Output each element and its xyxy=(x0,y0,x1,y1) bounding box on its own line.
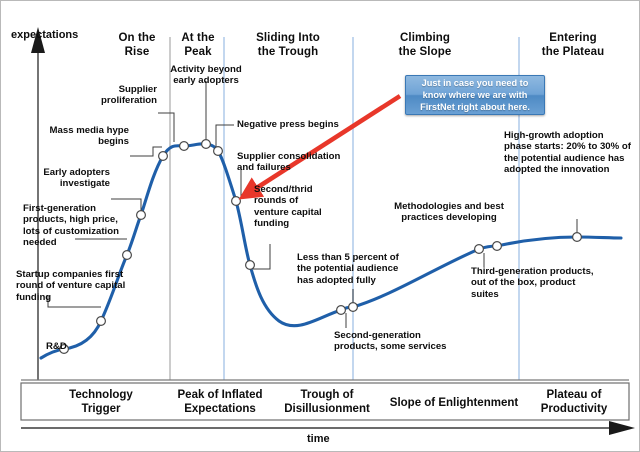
phase-heading-line2: the Plateau xyxy=(525,46,621,60)
band-label-slope-of-enlightenment: Slope of Enlightenment xyxy=(371,397,537,411)
annotation-second-third-rounds-text: Second/thrid rounds of venture capital f… xyxy=(254,184,332,229)
annotation-second-generation-text: Second-generation products, some service… xyxy=(334,330,456,353)
annotation-rnd: R&D xyxy=(46,341,67,352)
marker-second-third xyxy=(232,197,241,206)
annotation-second-generation: Second-generation products, some service… xyxy=(334,330,456,353)
annotation-early-adopters-text: Early adopters investigate xyxy=(18,167,110,190)
phase-heading-line1: At the xyxy=(172,32,224,46)
annotation-third-generation-text: Third-generation products, out of the bo… xyxy=(471,266,601,300)
annotation-supplier-consolidation: Supplier consolidation and failures xyxy=(237,151,347,174)
marker-less-than-5 xyxy=(246,261,255,270)
marker-startup xyxy=(97,317,106,326)
annotation-methodologies-text: Methodologies and best practices develop… xyxy=(389,201,509,224)
marker-negative-press xyxy=(214,147,223,156)
annotation-high-growth-text: High-growth adoption phase starts: 20% t… xyxy=(504,130,632,175)
phase-heading-on-the-rise: On the Rise xyxy=(104,32,170,59)
marker-mass-media xyxy=(159,152,168,161)
firstnet-callout[interactable]: Just in case you need to know where we a… xyxy=(405,75,545,115)
phase-heading-entering-the-plateau: Entering the Plateau xyxy=(525,32,621,59)
annotation-second-third-rounds: Second/thrid rounds of venture capital f… xyxy=(254,184,332,229)
y-axis-label: expectations xyxy=(11,29,78,41)
phase-heading-line1: Sliding Into xyxy=(240,32,336,46)
marker-supplier-prolif xyxy=(180,142,189,151)
phase-heading-climbing-the-slope: Climbing the Slope xyxy=(381,32,469,59)
phase-heading-line2: Rise xyxy=(104,46,170,60)
marker-second-gen xyxy=(337,306,346,315)
annotation-startup: Startup companies first round of venture… xyxy=(16,269,126,303)
annotation-high-growth: High-growth adoption phase starts: 20% t… xyxy=(504,130,632,175)
phase-heading-line1: Entering xyxy=(525,32,621,46)
annotation-mass-media-text: Mass media hype begins xyxy=(41,125,129,148)
callout-line1: Just in case you need to xyxy=(420,77,530,89)
annotation-supplier-proliferation: Supplier proliferation xyxy=(73,84,157,107)
band-label-line2: Productivity xyxy=(517,403,631,417)
phase-heading-line2: the Trough xyxy=(240,46,336,60)
phase-heading-line1: On the xyxy=(104,32,170,46)
callout-line2: know where we are with xyxy=(420,89,530,101)
annotation-first-generation-text: First-generation products, high price, l… xyxy=(23,203,128,248)
annotation-negative-press: Negative press begins xyxy=(237,119,347,130)
x-axis-label: time xyxy=(307,433,330,445)
annotation-activity-beyond: Activity beyond early adopters xyxy=(162,64,250,87)
band-label-line1: Plateau of xyxy=(517,389,631,403)
phase-heading-sliding-into-the-trough: Sliding Into the Trough xyxy=(240,32,336,59)
phase-heading-line1: Climbing xyxy=(381,32,469,46)
annotation-supplier-proliferation-text: Supplier proliferation xyxy=(73,84,157,107)
marker-early-adopters xyxy=(137,211,146,220)
annotation-mass-media: Mass media hype begins xyxy=(41,125,129,148)
hype-cycle-diagram: expectations time On the Rise At the Pea… xyxy=(0,0,640,452)
marker-plateau xyxy=(573,233,582,242)
annotation-early-adopters: Early adopters investigate xyxy=(18,167,110,190)
annotation-activity-beyond-text: Activity beyond early adopters xyxy=(162,64,250,87)
annotation-first-generation: First-generation products, high price, l… xyxy=(23,203,128,248)
annotation-third-generation: Third-generation products, out of the bo… xyxy=(471,266,601,300)
marker-first-gen xyxy=(123,251,132,260)
callout-arrow xyxy=(244,96,400,196)
marker-activity-beyond xyxy=(202,140,211,149)
phase-heading-at-the-peak: At the Peak xyxy=(172,32,224,59)
phase-heading-line2: the Slope xyxy=(381,46,469,60)
marker-third-gen xyxy=(475,245,484,254)
marker-methodologies xyxy=(349,303,358,312)
annotation-methodologies: Methodologies and best practices develop… xyxy=(389,201,509,224)
annotation-less-than-5-percent: Less than 5 percent of the potential aud… xyxy=(297,252,407,286)
annotation-startup-text: Startup companies first round of venture… xyxy=(16,269,126,303)
callout-line3: FirstNet right about here. xyxy=(420,101,530,113)
phase-heading-line2: Peak xyxy=(172,46,224,60)
band-label-line1: Slope of Enlightenment xyxy=(371,397,537,411)
band-label-plateau-of-productivity: Plateau of Productivity xyxy=(517,389,631,417)
marker-high-growth xyxy=(493,242,502,251)
annotation-supplier-consolidation-text: Supplier consolidation and failures xyxy=(237,151,347,174)
annotation-less-than-5-percent-text: Less than 5 percent of the potential aud… xyxy=(297,252,407,286)
